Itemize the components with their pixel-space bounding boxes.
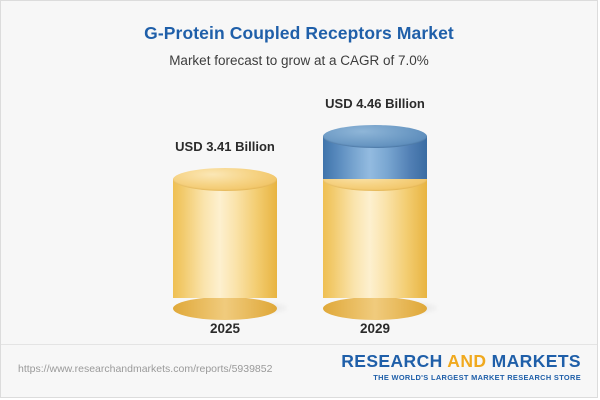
footer: https://www.researchandmarkets.com/repor…	[1, 344, 597, 397]
axis-label-2029: 2029	[325, 321, 425, 336]
bar-segment-base-2029	[323, 168, 427, 309]
research-and-markets-logo[interactable]: RESEARCH AND MARKETS THE WORLD'S LARGEST…	[341, 352, 581, 382]
data-label-2029: USD 4.46 Billion	[275, 96, 475, 111]
plot-area: USD 3.41 Billion 2025 USD 4.46 Billion	[1, 1, 597, 346]
data-label-2025: USD 3.41 Billion	[125, 139, 325, 154]
bar-cylinder-2025	[173, 168, 277, 309]
report-url[interactable]: https://www.researchandmarkets.com/repor…	[18, 363, 272, 375]
cylinder-body	[173, 179, 277, 298]
logo-tagline: THE WORLD'S LARGEST MARKET RESEARCH STOR…	[341, 373, 581, 382]
logo-wordmark: RESEARCH AND MARKETS	[341, 352, 581, 371]
cylinder-bottom-cap	[173, 297, 277, 320]
bar-cylinder-2029	[323, 125, 427, 309]
axis-label-2025: 2025	[175, 321, 275, 336]
bar-segment-growth-2029	[323, 125, 427, 179]
cylinder-bottom-cap	[323, 297, 427, 320]
logo-text-and: AND	[447, 351, 486, 371]
bar-segment-base-2025	[173, 168, 277, 309]
logo-text-markets: MARKETS	[486, 351, 581, 371]
logo-text-research: RESEARCH	[341, 351, 447, 371]
cylinder-top-cap	[173, 168, 277, 191]
chart-card: G-Protein Coupled Receptors Market Marke…	[0, 0, 598, 398]
cylinder-body	[323, 179, 427, 298]
cylinder-top-cap	[323, 125, 427, 148]
